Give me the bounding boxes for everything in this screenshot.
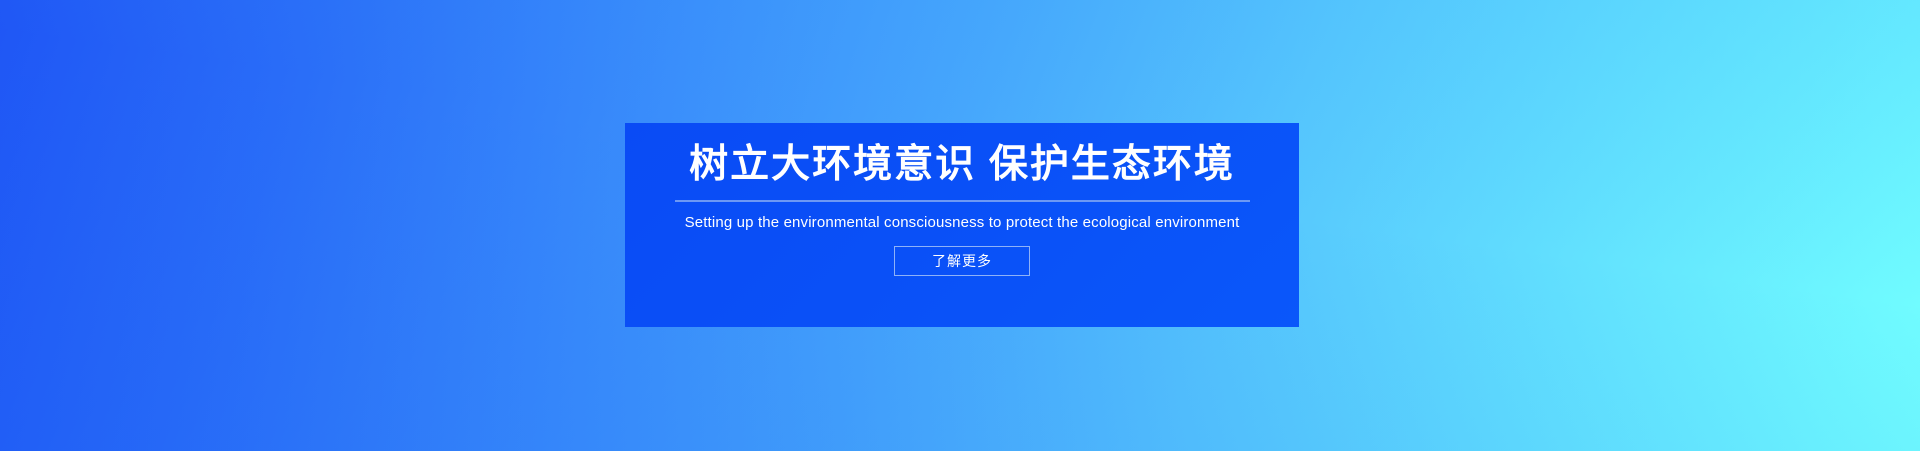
hero-subtitle: Setting up the environmental consciousne…: [685, 214, 1240, 232]
title-divider: [675, 200, 1250, 202]
hero-banner: 树立大环境意识 保护生态环境 Setting up the environmen…: [0, 0, 1920, 451]
hero-content-panel: 树立大环境意识 保护生态环境 Setting up the environmen…: [625, 123, 1299, 327]
learn-more-button[interactable]: 了解更多: [894, 246, 1030, 276]
hero-title: 树立大环境意识 保护生态环境: [689, 144, 1235, 187]
